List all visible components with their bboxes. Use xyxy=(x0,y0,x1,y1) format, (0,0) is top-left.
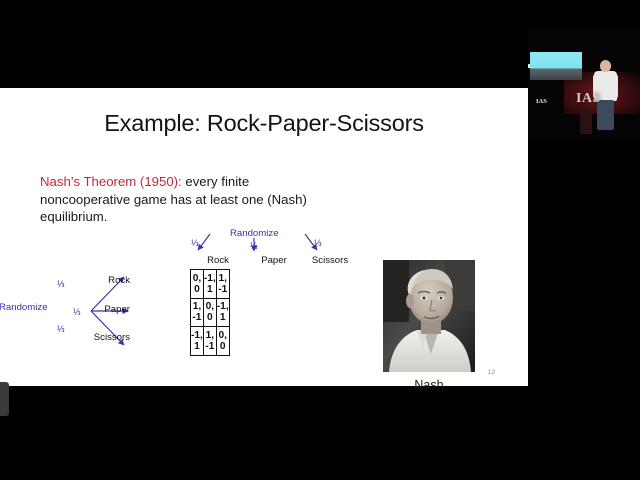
matrix-column-header-paper: Paper xyxy=(246,255,302,266)
page-title: Example: Rock-Paper-Scissors xyxy=(0,110,528,137)
probability-label-col-rock: ⅓ xyxy=(191,238,199,248)
venue-logo-left: IAS xyxy=(536,98,547,105)
payoff-cell: 1, -1 xyxy=(203,327,216,356)
probability-label-col-scissors: ⅓ xyxy=(314,238,322,248)
presenter-webcam-overlay[interactable]: IAS IAS xyxy=(528,28,640,140)
payoff-cell: -1, 1 xyxy=(203,270,216,299)
payoff-cell: -1, 1 xyxy=(216,298,229,327)
slide-number: 12 xyxy=(488,369,495,376)
table-row: 0, 0 -1, 1 1, -1 xyxy=(191,270,230,299)
matrix-row-headers: Rock Paper Scissors xyxy=(78,269,133,355)
payoff-cell: 0, 0 xyxy=(191,270,204,299)
hidden-panel-tab[interactable] xyxy=(0,382,9,416)
probability-label-row-rock: ⅓ xyxy=(57,279,65,289)
payoff-cell: -1, 1 xyxy=(191,327,204,356)
matrix-column-header-rock: Rock xyxy=(190,255,246,266)
payoff-matrix-table: 0, 0 -1, 1 1, -1 1, -1 0, 0 -1, 1 -1, 1 … xyxy=(190,269,230,356)
stage-background: IAS IAS xyxy=(528,28,640,140)
presenter-head xyxy=(600,60,611,72)
matrix-row-header-scissors: Scissors xyxy=(81,332,133,343)
probability-label-col-paper: ⅓ xyxy=(250,241,258,251)
presentation-slide: Example: Rock-Paper-Scissors Nash’s Theo… xyxy=(0,88,528,386)
probability-label-row-scissors: ⅓ xyxy=(57,324,65,334)
left-randomize-label: Randomize xyxy=(0,302,48,313)
payoff-cell: 1, -1 xyxy=(191,298,204,327)
portrait-graphic xyxy=(383,260,475,372)
payoff-cell: 1, -1 xyxy=(216,270,229,299)
payoff-cell: 0, 0 xyxy=(203,298,216,327)
video-player-frame: Example: Rock-Paper-Scissors Nash’s Theo… xyxy=(0,0,640,480)
nash-portrait-photo xyxy=(383,260,475,372)
theorem-statement: Nash’s Theorem (1950): every finite nonc… xyxy=(40,173,315,226)
nash-portrait-figure: Nash xyxy=(383,260,475,392)
table-row: 1, -1 0, 0 -1, 1 xyxy=(191,298,230,327)
portrait-caption: Nash xyxy=(383,378,475,392)
projector-light-dot xyxy=(528,64,530,68)
matrix-row-header-paper: Paper xyxy=(81,304,133,315)
table-row: -1, 1 1, -1 0, 0 xyxy=(191,327,230,356)
payoff-cell: 0, 0 xyxy=(216,327,229,356)
lectern xyxy=(580,110,592,134)
theorem-highlight: Nash’s Theorem (1950): xyxy=(40,174,182,189)
matrix-row-header-rock: Rock xyxy=(81,275,133,286)
top-randomize-label: Randomize xyxy=(230,228,279,239)
projected-slide-screen xyxy=(530,52,582,80)
venue-logo-main: IAS xyxy=(576,91,601,107)
probability-label-row-paper: ⅓ xyxy=(73,307,81,317)
matrix-column-header-scissors: Scissors xyxy=(302,255,358,266)
